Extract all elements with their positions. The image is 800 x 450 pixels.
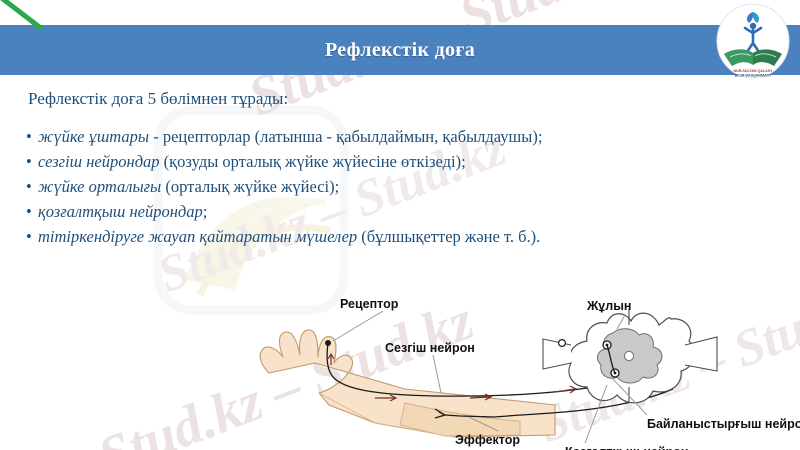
bullet-list: •жүйке ұштары - рецепторлар (латынша - қ… [0,110,800,249]
lead-paragraph: Рефлекстік доға 5 бөлімнен тұрады: [0,78,800,110]
list-item-desc: (бұлшықеттер және т. б.). [357,227,540,246]
slide-body: Рефлекстік доға 5 бөлімнен тұрады: •жүйк… [0,78,800,249]
list-item-desc: (орталық жүйке жүйесі); [161,177,339,196]
list-item-desc: (қозуды орталық жүйке жүйесіне өткізеді)… [160,152,466,171]
list-item-desc: ; [203,202,208,221]
list-item-term: жүйке орталығы [38,177,161,196]
label-spinal-cord: Жұлын [587,299,631,313]
slide-title-bar: Рефлекстік доға [0,25,800,75]
bullet-dot: • [26,224,38,249]
reflex-arc-diagram: Рецептор Сезгіш нейрон Жұлын Эффектор Ба… [255,285,800,450]
spinal-cord-crosssection [543,309,717,403]
list-item-term: тітіркендіруге жауап қайтаратын мүшелер [38,227,357,246]
page-title: Рефлекстік доға [325,39,475,62]
list-item: •қозғалтқыш нейрондар; [24,199,800,224]
list-item-term: жүйке ұштары [38,127,149,146]
list-item: •тітіркендіруге жауап қайтаратын мүшелер… [24,224,800,249]
bullet-dot: • [26,174,38,199]
list-item: •жүйке орталығы (орталық жүйке жүйесі); [24,174,800,199]
bullet-dot: • [26,149,38,174]
list-item-term: сезгіш нейрондар [38,152,160,171]
label-motor-neuron: Қозғалтқыш нейрон [565,445,688,450]
label-interneuron: Байланыстырғыш нейрон [647,417,800,431]
label-sensory-neuron: Сезгіш нейрон [385,341,475,355]
organization-logo-icon: NUR-SULTAN QALASY BILIM BASQARMASY [714,2,792,80]
list-item-term: қозғалтқыш нейрондар [38,202,203,221]
label-effector: Эффектор [455,433,520,447]
slide-canvas: Stud.kz – Stud.kz Stud.kz – Stud.kz Stud… [0,0,800,450]
list-item: •сезгіш нейрондар (қозуды орталық жүйке … [24,149,800,174]
logo-line-2: BILIM BASQARMASY [735,74,772,78]
bullet-dot: • [26,124,38,149]
logo-line-1: NUR-SULTAN QALASY [734,69,774,73]
green-accent-stroke [0,0,44,30]
bullet-dot: • [26,199,38,224]
list-item-desc: - рецепторлар (латынша - қабылдаймын, қа… [149,127,542,146]
list-item: •жүйке ұштары - рецепторлар (латынша - қ… [24,124,800,149]
label-receptor: Рецептор [340,297,398,311]
